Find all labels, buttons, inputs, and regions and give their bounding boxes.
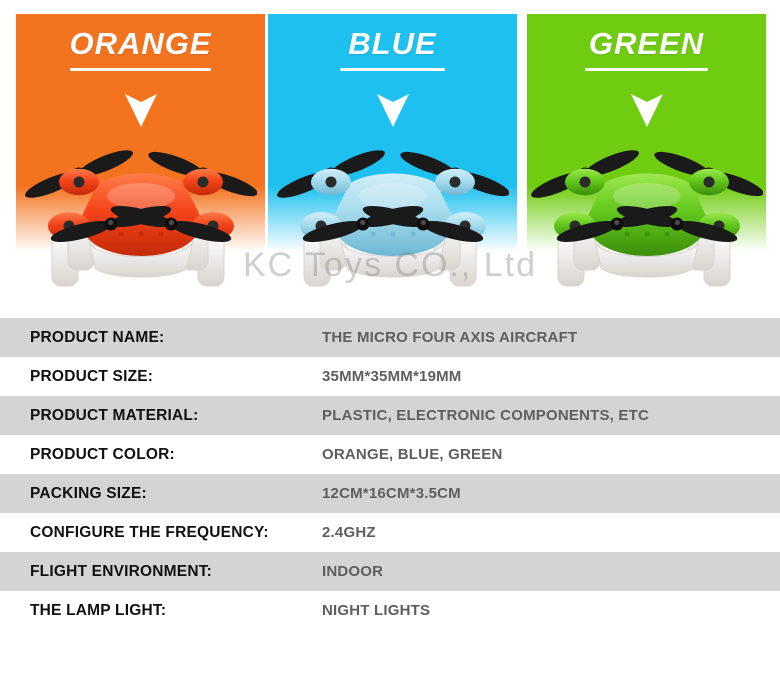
product-gallery: ORANGEBLUEGREEN: [0, 0, 780, 300]
spec-label: PRODUCT COLOR:: [0, 446, 322, 464]
table-row: CONFIGURE THE FREQUENCY:2.4GHZ: [0, 513, 780, 552]
table-row: PRODUCT COLOR:ORANGE, BLUE, GREEN: [0, 435, 780, 474]
drone-illustration: [531, 122, 763, 290]
spec-value: INDOOR: [322, 563, 780, 580]
spec-label: PRODUCT SIZE:: [0, 368, 322, 386]
panel-title-underline: [70, 68, 211, 71]
table-row: FLIGHT ENVIRONMENT:INDOOR: [0, 552, 780, 591]
spec-value: 35MM*35MM*19MM: [322, 368, 780, 385]
table-row: PRODUCT MATERIAL:PLASTIC, ELECTRONIC COM…: [0, 396, 780, 435]
product-panel-orange[interactable]: ORANGE: [16, 14, 265, 252]
table-row: PACKING SIZE:12CM*16CM*3.5CM: [0, 474, 780, 513]
panel-title-orange: ORANGE: [16, 28, 265, 59]
panel-title-blue: BLUE: [268, 28, 517, 59]
table-row: PRODUCT SIZE:35MM*35MM*19MM: [0, 357, 780, 396]
spec-label: PACKING SIZE:: [0, 485, 322, 503]
spec-label: PRODUCT NAME:: [0, 329, 322, 347]
spec-label: THE LAMP LIGHT:: [0, 602, 322, 620]
panel-title-green: GREEN: [527, 28, 766, 59]
specification-table: PRODUCT NAME:THE MICRO FOUR AXIS AIRCRAF…: [0, 318, 780, 630]
table-row: PRODUCT NAME:THE MICRO FOUR AXIS AIRCRAF…: [0, 318, 780, 357]
drone-illustration: [25, 122, 257, 290]
product-panel-green[interactable]: GREEN: [527, 14, 766, 252]
spec-label: PRODUCT MATERIAL:: [0, 407, 322, 425]
spec-value: ORANGE, BLUE, GREEN: [322, 446, 780, 463]
drone-illustration: [277, 122, 509, 290]
chevron-down-arrow-icon: [630, 92, 664, 128]
chevron-down-arrow-icon: [124, 92, 158, 128]
product-panel-blue[interactable]: BLUE: [268, 14, 517, 252]
spec-value: PLASTIC, ELECTRONIC COMPONENTS, ETC: [322, 407, 780, 424]
spec-value: 2.4GHZ: [322, 524, 780, 541]
spec-value: THE MICRO FOUR AXIS AIRCRAFT: [322, 329, 780, 346]
panel-title-underline: [585, 68, 708, 71]
spec-value: 12CM*16CM*3.5CM: [322, 485, 780, 502]
spec-label: FLIGHT ENVIRONMENT:: [0, 563, 322, 581]
table-row: THE LAMP LIGHT:NIGHT LIGHTS: [0, 591, 780, 630]
chevron-down-arrow-icon: [376, 92, 410, 128]
spec-value: NIGHT LIGHTS: [322, 602, 780, 619]
panel-title-underline: [340, 68, 445, 71]
spec-label: CONFIGURE THE FREQUENCY:: [0, 524, 322, 542]
